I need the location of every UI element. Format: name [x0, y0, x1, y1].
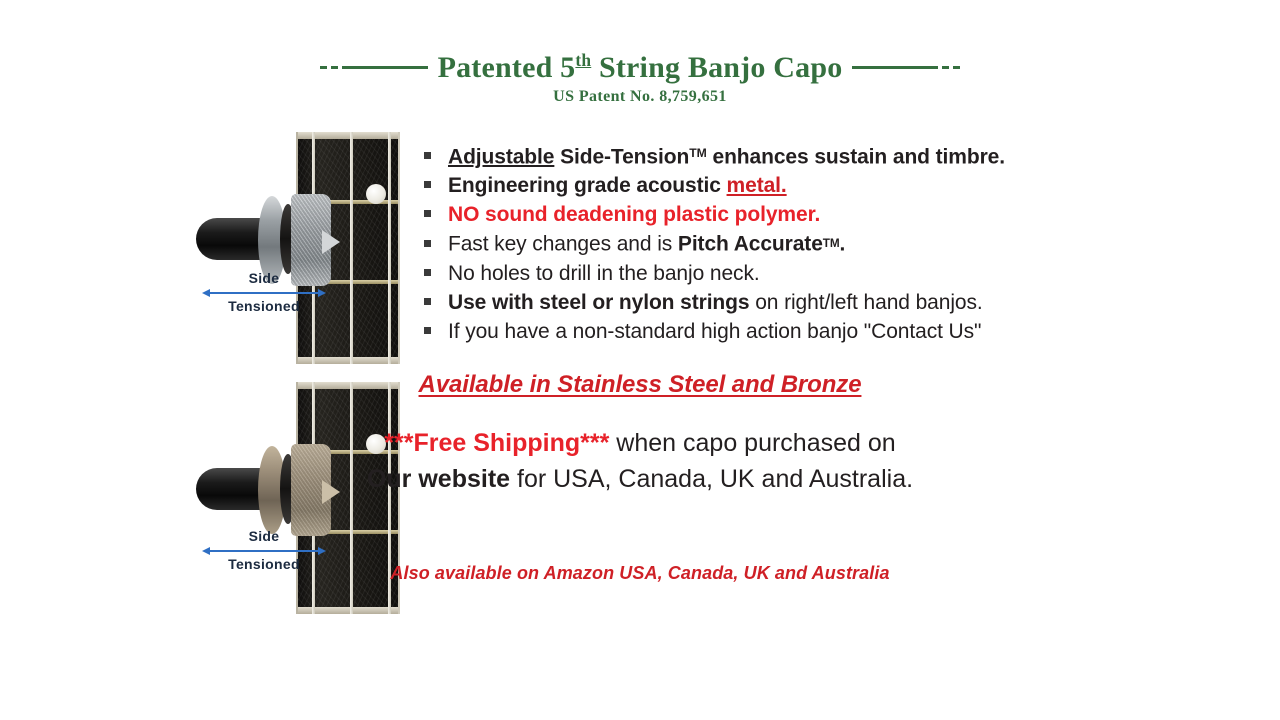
feature-text-run: Adjustable	[448, 145, 554, 168]
header: Patented 5th String Banjo Capo US Patent…	[0, 50, 1280, 106]
feature-text-run: Side-Tension	[554, 145, 689, 168]
feature-item-label: NO sound deadening plastic polymer.	[448, 201, 820, 228]
feature-item: Use with steel or nylon strings on right…	[424, 289, 1084, 316]
feature-item: If you have a non-standard high action b…	[424, 318, 1084, 345]
square-bullet-icon	[424, 269, 431, 276]
feature-item: Fast key changes and is Pitch AccurateTM…	[424, 230, 1084, 257]
our-website-text: Our website	[367, 465, 510, 493]
feature-item-label: Use with steel or nylon strings on right…	[448, 289, 983, 316]
banjo-string	[350, 132, 353, 364]
side-tension-arrow-icon	[202, 546, 326, 555]
shipping-line-2-rest: for USA, Canada, UK and Australia.	[510, 465, 913, 493]
feature-item-label: No holes to drill in the banjo neck.	[448, 260, 760, 287]
feature-item-label: Adjustable Side-TensionTM enhances susta…	[448, 140, 1005, 170]
capo-string-tip	[322, 230, 340, 254]
side-label-line1: Side	[202, 528, 326, 545]
feature-item: Adjustable Side-TensionTM enhances susta…	[424, 140, 1084, 170]
arrow-bar	[209, 292, 319, 294]
feature-text-run: Fast key changes and is	[448, 233, 678, 256]
product-image-stainless-steel: Side Tensioned	[196, 132, 400, 364]
feature-text-run: No holes to drill in the banjo neck.	[448, 262, 760, 285]
feature-item-label: Fast key changes and is Pitch AccurateTM…	[448, 230, 845, 257]
feature-text-run: enhances sustain and timbre.	[707, 145, 1005, 168]
square-bullet-icon	[424, 298, 431, 305]
square-bullet-icon	[424, 181, 431, 188]
feature-text-run: Use with steel or nylon strings	[448, 291, 749, 314]
title-rule-left	[320, 66, 428, 69]
side-label-line2: Tensioned	[202, 298, 326, 315]
title-row: Patented 5th String Banjo Capo	[0, 50, 1280, 85]
feature-text-run: TM	[823, 237, 840, 250]
square-bullet-icon	[424, 240, 431, 247]
page-title-pre: Patented 5	[438, 51, 576, 84]
feature-item-label: If you have a non-standard high action b…	[448, 318, 981, 345]
feature-text-run: Engineering grade acoustic	[448, 174, 727, 197]
capo-knob	[196, 218, 266, 260]
square-bullet-icon	[424, 210, 431, 217]
square-bullet-icon	[424, 327, 431, 334]
feature-text-run: metal.	[727, 174, 787, 197]
feature-text-run: .	[840, 233, 846, 256]
title-rule-right	[852, 66, 960, 69]
banjo-string	[388, 132, 391, 364]
shipping-line-1-rest: when capo purchased on	[609, 429, 895, 457]
side-tension-arrow-icon	[202, 288, 326, 297]
feature-text-run: TM	[689, 146, 707, 160]
side-label-line1: Side	[202, 270, 326, 287]
slide-canvas: Patented 5th String Banjo Capo US Patent…	[0, 0, 1280, 720]
feature-item: NO sound deadening plastic polymer.	[424, 201, 1084, 228]
fretboard-dot-inlay	[366, 184, 386, 204]
amazon-availability-line: Also available on Amazon USA, Canada, UK…	[0, 563, 1280, 584]
page-title-ordinal: th	[575, 50, 591, 70]
feature-list: Adjustable Side-TensionTM enhances susta…	[424, 140, 1084, 347]
shipping-line-2: Our website for USA, Canada, UK and Aust…	[0, 461, 1280, 497]
availability-line: Available in Stainless Steel and Bronze	[0, 371, 1280, 399]
side-tensioned-label-steel: Side Tensioned	[202, 270, 326, 314]
free-shipping-badge: ***Free Shipping***	[384, 429, 609, 457]
feature-item-label: Engineering grade acoustic metal.	[448, 172, 787, 199]
shipping-offer: ***Free Shipping*** when capo purchased …	[0, 425, 1280, 497]
square-bullet-icon	[424, 152, 431, 159]
page-title-post: String Banjo Capo	[591, 51, 842, 84]
arrow-head-right	[318, 547, 326, 555]
shipping-line-1: ***Free Shipping*** when capo purchased …	[0, 425, 1280, 461]
arrow-head-right	[318, 289, 326, 297]
arrow-bar	[209, 550, 319, 552]
page-title: Patented 5th String Banjo Capo	[438, 50, 843, 85]
feature-item: No holes to drill in the banjo neck.	[424, 260, 1084, 287]
feature-text-run: Pitch Accurate	[678, 233, 823, 256]
feature-text-run: on right/left hand banjos.	[749, 291, 982, 314]
feature-text-run: NO sound deadening plastic polymer.	[448, 203, 820, 226]
patent-number: US Patent No. 8,759,651	[0, 88, 1280, 106]
feature-text-run: If you have a non-standard high action b…	[448, 320, 981, 343]
feature-item: Engineering grade acoustic metal.	[424, 172, 1084, 199]
